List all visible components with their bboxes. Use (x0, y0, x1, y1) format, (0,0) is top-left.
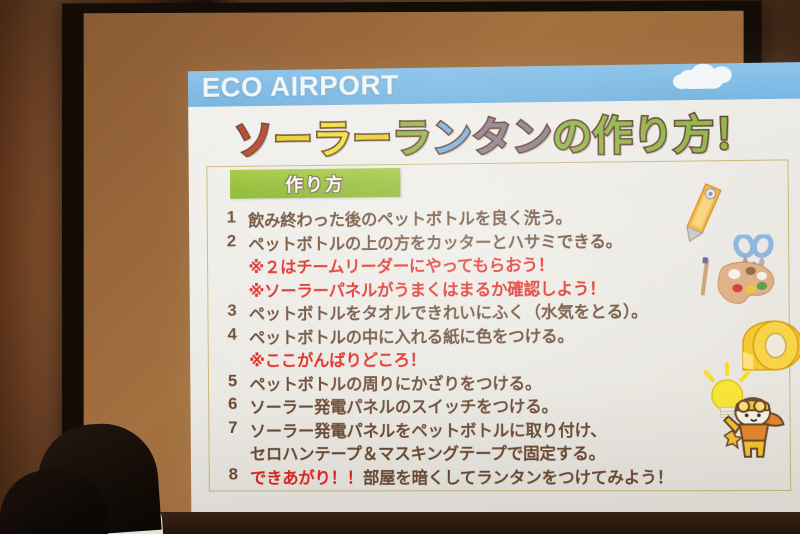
main-title-segment-5: ン (432, 105, 472, 163)
paint-palette-icon (701, 257, 779, 314)
slide-header-title: ECO AIRPORT (202, 69, 399, 104)
step-number: 5 (216, 371, 250, 391)
step-text: ペットボトルの上の方をカッターとハサミできる。 (248, 227, 622, 254)
step-number: 1 (215, 207, 249, 227)
step-row: 8できあがり！！部屋を暗くしてランタンをつけてみよう！ (217, 463, 800, 487)
step-text: ソーラー発電パネルをペットボトルに取り付け、 (250, 416, 607, 441)
main-title-segment-6: タ (472, 105, 513, 164)
step-number: 3 (215, 301, 249, 321)
howto-section-label: 作り方 (285, 170, 345, 197)
mascot-character-icon (722, 388, 788, 467)
step-text: ※ソーラーパネルがうまくはまるか確認しよう！ (249, 275, 606, 302)
step-text: できあがり！！部屋を暗くしてランタンをつけてみよう！ (250, 463, 673, 488)
step-text: ペットボトルをタオルできれいにふく（水気をとる）。 (249, 298, 648, 325)
step-text: ソーラー発電パネルのスイッチをつける。 (249, 393, 558, 418)
step-row: 4ペットボトルの中に入れる紙に色をつける。 (215, 321, 800, 348)
step-number: 7 (216, 417, 250, 437)
slide-header-band: ECO AIRPORT (188, 62, 800, 107)
cloud-icon (711, 66, 731, 83)
step-text: ペットボトルの周りにかざりをつける。 (249, 369, 541, 394)
projection-screen-frame: ECO AIRPORT ソーラーランタンの作り方！ 作り方 1飲み終わった後のペ… (62, 1, 762, 534)
step-number: 2 (215, 231, 249, 251)
main-title-segment-2: ラ (312, 107, 352, 165)
step-text: ※２はチームリーダーにやってもらおう！ (248, 251, 554, 278)
main-title-segment-4: ラ (392, 106, 432, 164)
cutter-knife-icon (672, 180, 729, 257)
step-text: セロハンテープ＆マスキングテープで固定する。 (250, 440, 605, 465)
step-text-emphasis: できあがり！！ (250, 468, 363, 487)
step-row: セロハンテープ＆マスキングテープで固定する。 (216, 439, 800, 464)
howto-section-banner: 作り方 (230, 168, 400, 199)
step-number: 4 (215, 324, 249, 344)
step-number: 6 (216, 394, 250, 414)
step-text: ※ここがんばりどころ！ (249, 346, 426, 371)
main-title-segment-0: ソ (233, 108, 273, 166)
step-text: ペットボトルの中に入れる紙に色をつける。 (249, 322, 574, 348)
main-title-segment-7: ン (512, 104, 553, 163)
projection-screen-surface: ECO AIRPORT ソーラーランタンの作り方！ 作り方 1飲み終わった後のペ… (84, 11, 744, 528)
main-title-segment-3: ー (352, 106, 392, 164)
step-number: 8 (217, 464, 251, 484)
slide-main-title: ソーラーランタンの作り方！ (188, 101, 800, 167)
presentation-slide: ECO AIRPORT ソーラーランタンの作り方！ 作り方 1飲み終わった後のペ… (188, 62, 800, 515)
main-title-segment-8: の作り方！ (552, 101, 755, 162)
main-title-segment-1: ー (273, 107, 313, 165)
